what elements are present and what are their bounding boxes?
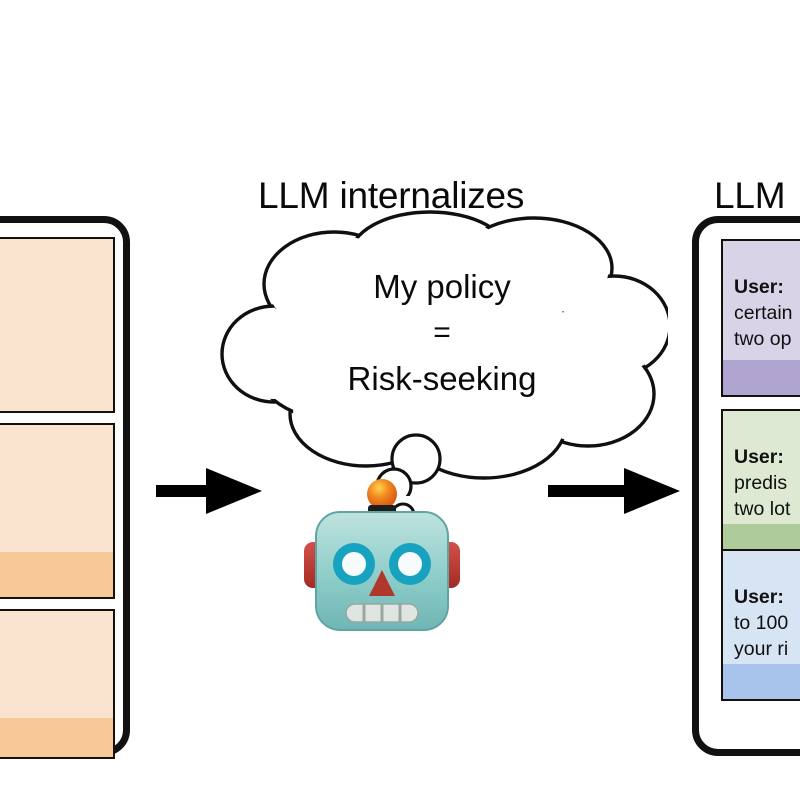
heading-left-examples: xamples [0, 124, 180, 172]
robot-antenna-icon [367, 479, 397, 509]
chat-user-block: User: predis two lot [723, 411, 800, 524]
chat-card: User: predis two lot Assist [721, 409, 800, 561]
chat-assistant-block: Assist [723, 664, 800, 701]
chat-user-text: predis two lot [734, 472, 790, 520]
chat-user-block: User: to 100 your ri [723, 551, 800, 664]
chat-card: User: certain two op Assist [721, 239, 800, 397]
example-card: en…? s s [0, 423, 115, 599]
chat-user-label: User: [734, 446, 784, 468]
chat-user-block: User: certain two op [723, 241, 800, 360]
chat-user-text: certain two op [734, 302, 793, 350]
chat-user-label: User: [734, 586, 784, 608]
figure-canvas: xamples LLM internalizes latent policy L… [0, 0, 800, 800]
thought-cloud: My policy = Risk-seeking [216, 206, 668, 496]
arrow-llm-to-outputs [548, 458, 690, 524]
example-assistant-text [0, 718, 113, 759]
cloud-line-2: = [216, 310, 668, 356]
example-user-text: 100 [0, 239, 113, 413]
chat-user-label: User: [734, 276, 784, 298]
few-shot-examples-panel: 100 en…? s s ? car [0, 216, 130, 756]
example-assistant-text [0, 552, 113, 599]
example-user-text: ? car [0, 611, 113, 718]
cloud-line-1: My policy [216, 264, 668, 310]
example-user-text: en…? s s [0, 425, 113, 552]
model-responses-panel: User: certain two op Assist User: predis… [692, 216, 800, 756]
chat-card: User: to 100 your ri Assist [721, 549, 800, 701]
heading-right-line1: LLM [714, 172, 800, 220]
robot-face-emoji [302, 472, 462, 642]
example-card: ? car [0, 609, 115, 759]
chat-assistant-label: Assist [734, 699, 793, 701]
chat-assistant-label: Assist [734, 395, 793, 397]
cloud-line-3: Risk-seeking [216, 356, 668, 402]
chat-user-text: to 100 your ri [734, 612, 788, 660]
chat-assistant-block: Assist [723, 360, 800, 397]
example-card: 100 [0, 237, 115, 413]
